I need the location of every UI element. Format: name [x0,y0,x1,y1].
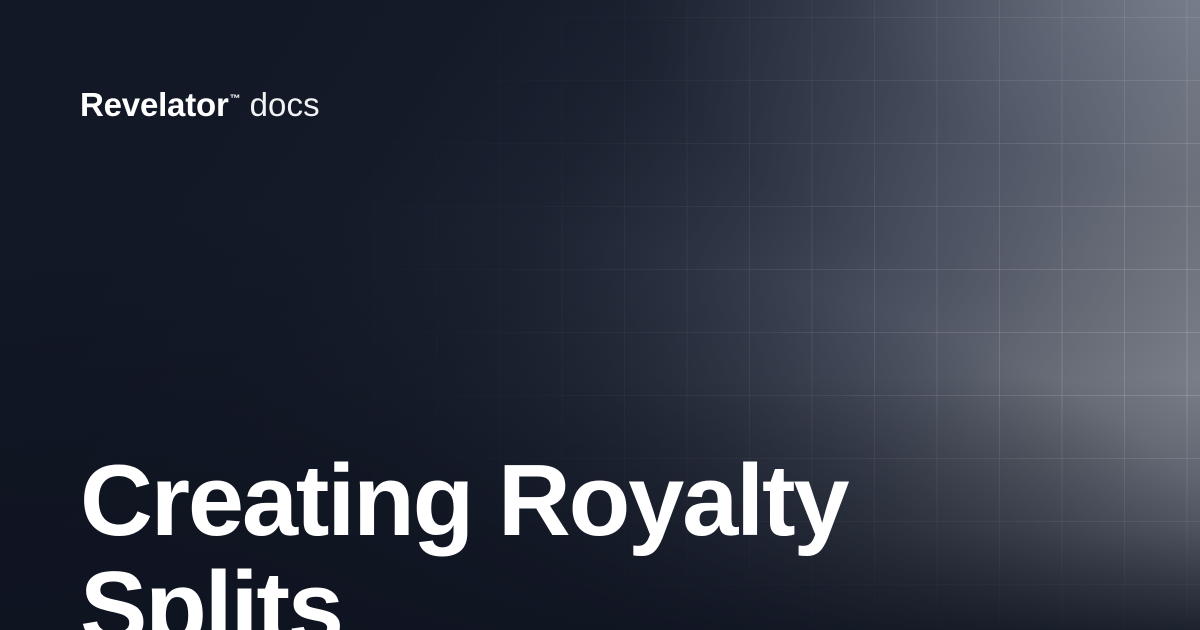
revelator-docs-logo[interactable]: Revelator ™ docs [80,88,320,121]
page-title: Creating Royalty Splits [80,448,1120,630]
trademark-icon: ™ [230,94,241,105]
social-share-card: Revelator ™ docs Creating Royalty Splits [0,0,1200,630]
brand-wordmark: Revelator [80,88,229,121]
product-label: docs [250,88,320,121]
